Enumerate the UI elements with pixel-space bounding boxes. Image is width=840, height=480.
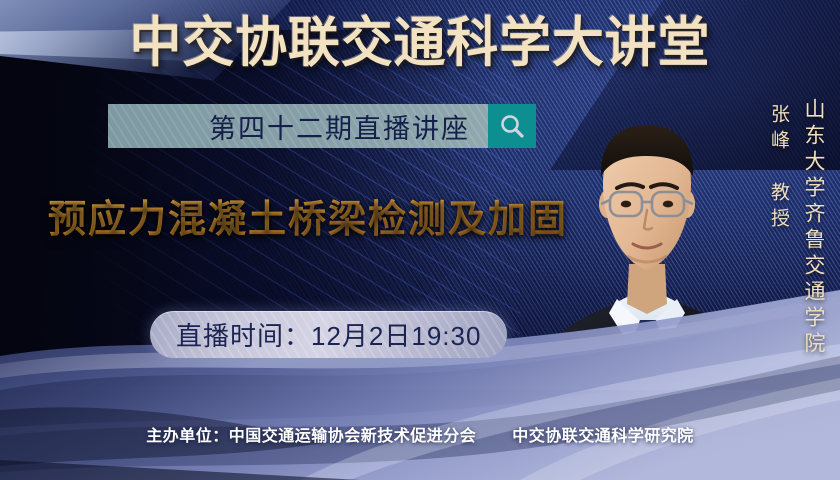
search-button[interactable] xyxy=(488,104,536,148)
organizer-primary: 主办单位：中国交通运输协会新技术促进分会 xyxy=(146,428,476,445)
episode-banner-bar: 第四十二期直播讲座 xyxy=(108,104,488,148)
episode-label: 第四十二期直播讲座 xyxy=(209,107,470,146)
live-time-badge: 直播时间：12月2日19:30 xyxy=(150,311,507,358)
organizer-secondary: 中交协联交通科学研究院 xyxy=(512,428,694,445)
live-time-text: 直播时间：12月2日19:30 xyxy=(176,316,481,353)
speaker-name-title: 张峰 教授 xyxy=(765,104,792,234)
speaker-organization: 山东大学齐鲁交通学院 xyxy=(798,98,828,358)
lecture-topic-title: 预应力混凝土桥梁检测及加固 xyxy=(48,188,568,243)
organizer-footer: 主办单位：中国交通运输协会新技术促进分会 中交协联交通科学研究院 xyxy=(0,422,840,446)
search-icon xyxy=(498,112,526,140)
silk-ribbon-band xyxy=(0,260,840,480)
live-lecture-poster: 中交协联交通科学大讲堂 第四十二期直播讲座 预应力混凝土桥梁检测及加固 直播时间… xyxy=(0,0,840,480)
episode-banner: 第四十二期直播讲座 xyxy=(108,104,536,148)
page-title: 中交协联交通科学大讲堂 xyxy=(17,16,823,70)
